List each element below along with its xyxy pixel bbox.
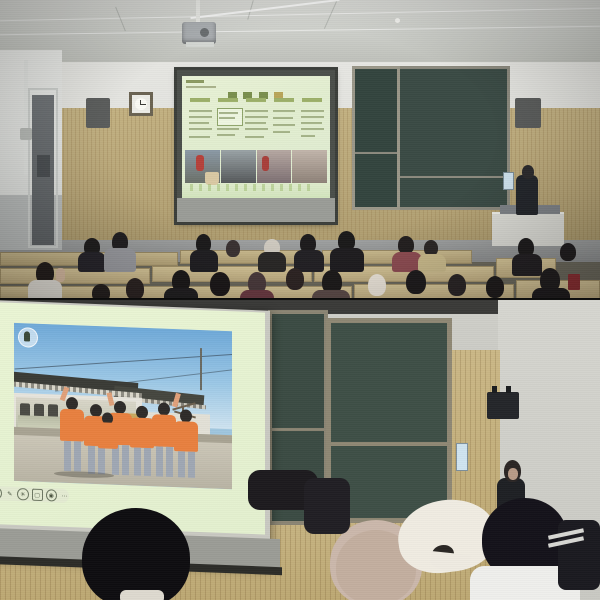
blackboard-left-panel [352,66,400,210]
slide-figure-red [196,155,204,171]
projector-plate [186,42,214,47]
slide-grass [190,184,310,191]
speaker-bracket-2 [506,386,511,393]
watermark-glyph-icon [24,331,30,341]
blackboard-right-seam [331,442,448,446]
adjust-icon[interactable]: ✳ [17,488,28,500]
edit-pencil-icon[interactable]: ✎ [5,489,14,499]
clock-face [135,98,147,110]
midground-head-2 [304,478,350,534]
speaker-right [515,98,541,128]
door-window [37,155,50,177]
ceiling [0,0,600,62]
top-photo [0,0,600,300]
blackboard-left-seam [355,152,397,154]
crop-icon[interactable]: ▢ [32,489,43,501]
blackboard-left-seam [272,428,324,431]
filter-icon[interactable]: ◉ [46,489,57,501]
displayed-group-photo [14,323,232,489]
wall-speaker [487,392,519,419]
speaker-bracket [492,386,497,393]
wall-trim [24,60,28,175]
bottom-presenter-face [508,468,518,480]
image-canvas: ↺ ✎ ✳ ▢ ◉ ⋯ [0,0,600,600]
slide-corner-text [186,80,204,83]
slide-title [228,86,288,93]
dark-hair-head [82,508,190,600]
slide-corner-sub [186,86,216,88]
more-icon[interactable]: ⋯ [60,491,69,501]
ceiling-projector [182,22,216,44]
rotate-icon[interactable]: ↺ [0,487,2,499]
wall-switch[interactable] [20,128,32,140]
dark-hair-collar [120,590,164,600]
speaker-left [86,98,110,128]
slide-figure-red-2 [262,156,269,171]
presenter-head [522,165,534,179]
notice-sign [503,172,514,190]
projector-lens-icon [200,28,209,37]
screen-lower-edge [177,198,335,222]
photo-viewer-toolbar[interactable]: ↺ ✎ ✳ ▢ ◉ ⋯ [0,486,69,503]
bottom-notice-sign [456,443,468,471]
presenter-body [516,175,538,215]
